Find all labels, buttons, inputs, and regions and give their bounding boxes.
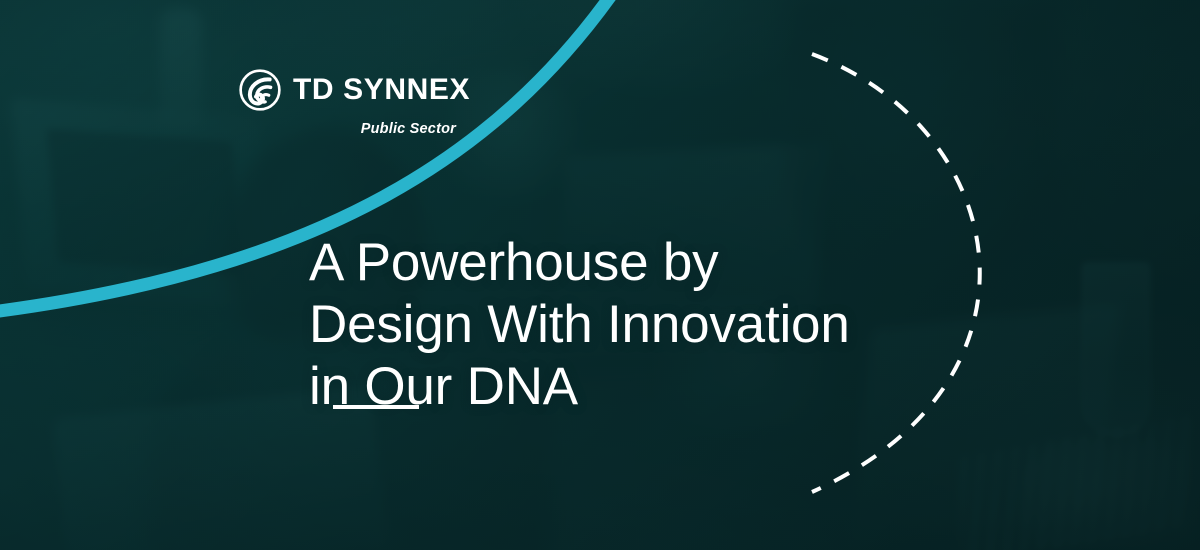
brand-wordmark: TD SYNNEX — [293, 75, 470, 105]
page-title: A Powerhouse by Design With Innovation i… — [309, 232, 929, 418]
brand-logo: TD SYNNEX Public Sector — [238, 68, 458, 137]
logo-row: TD SYNNEX — [238, 68, 458, 112]
brand-tagline: Public Sector — [238, 121, 458, 137]
headline-line-1: A Powerhouse by — [309, 232, 929, 294]
hero-banner: TD SYNNEX Public Sector A Powerhouse by … — [0, 0, 1200, 550]
headline-divider — [333, 405, 419, 409]
headline-line-2: Design With Innovation — [309, 294, 929, 356]
td-synnex-swirl-icon — [238, 68, 282, 112]
banner-content: TD SYNNEX Public Sector A Powerhouse by … — [0, 0, 1200, 550]
